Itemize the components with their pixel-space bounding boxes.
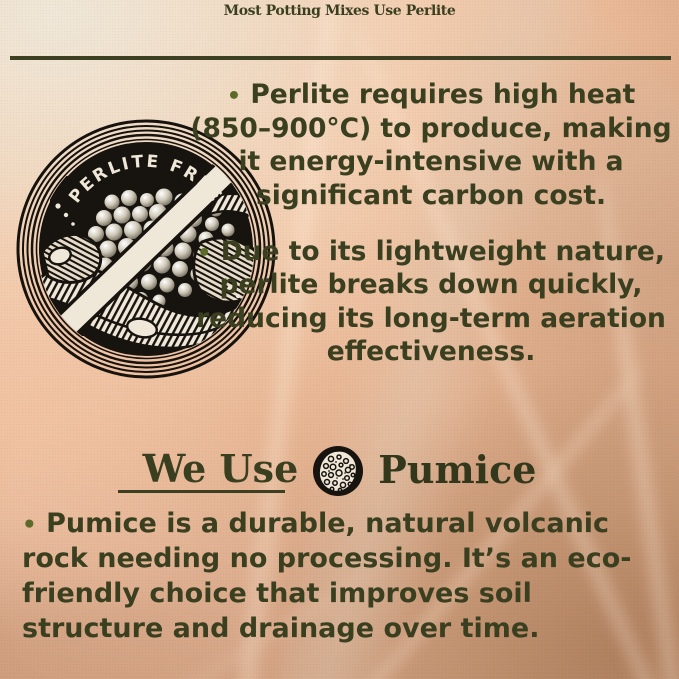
poster-canvas: Most Potting Mixes Use Perlite <box>0 0 679 679</box>
list-item: • Due to its lightweight nature, perlite… <box>190 235 672 370</box>
bullet-dot-icon: • <box>227 83 241 109</box>
pumice-label: Pumice <box>378 451 536 491</box>
page-title: Most Potting Mixes Use Perlite <box>0 4 679 19</box>
list-item: • Pumice is a durable, natural volcanic … <box>22 506 662 646</box>
we-use-label: We Use <box>143 450 299 492</box>
pumice-rock-icon <box>312 445 364 497</box>
list-item: • Perlite requires high heat (850–900°C)… <box>190 78 672 213</box>
perlite-bullet-list: • Perlite requires high heat (850–900°C)… <box>190 78 672 369</box>
pumice-bullet-1-text: Pumice is a durable, natural volcanic ro… <box>22 508 631 644</box>
bullet-dot-icon: • <box>197 240 211 266</box>
title-underline-rule <box>10 56 671 60</box>
we-use-pumice-row: We Use <box>0 442 679 500</box>
bullet-dot-icon: • <box>22 512 37 538</box>
perlite-bullet-2-text: Due to its lightweight nature, perlite b… <box>196 236 666 368</box>
poster-content: Most Potting Mixes Use Perlite <box>0 0 679 679</box>
we-use-underline-rule <box>118 490 285 493</box>
pumice-bullet-list: • Pumice is a durable, natural volcanic … <box>22 506 662 646</box>
perlite-bullet-1-text: Perlite requires high heat (850–900°C) t… <box>190 79 671 211</box>
